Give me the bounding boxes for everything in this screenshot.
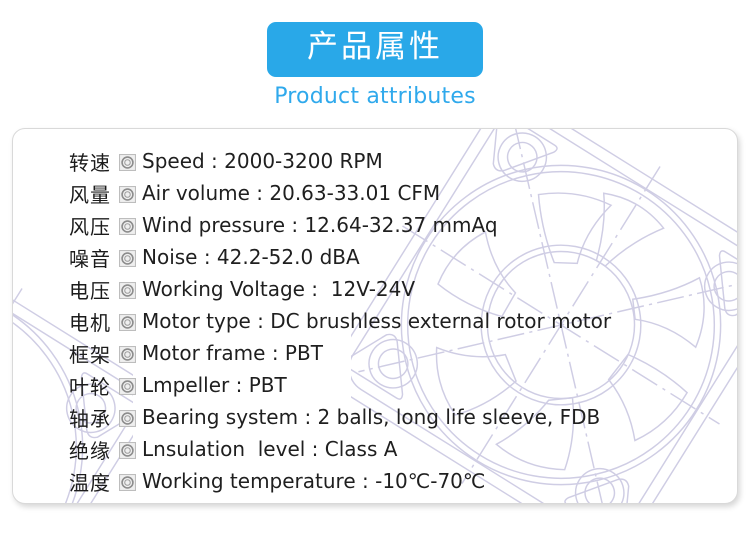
page-title-badge: 产品属性 (267, 22, 483, 77)
gear-ring-icon (119, 218, 136, 235)
gear-ring-icon (119, 474, 136, 491)
attribute-label-cn: 框架 (69, 339, 111, 368)
attribute-value-en: Motor frame : PBT (142, 341, 323, 365)
attribute-row: 电压 Working Voltage : 12V-24V (69, 273, 737, 305)
attribute-row: 电机 Motor type : DC brushless external ro… (69, 305, 737, 337)
attribute-label-cn: 电压 (69, 275, 111, 304)
gear-ring-icon (119, 410, 136, 427)
attributes-card: 转速 Speed : 2000-3200 RPM 风量 Air volume :… (12, 128, 738, 504)
attribute-label-cn: 叶轮 (69, 371, 111, 400)
attribute-row: 转速 Speed : 2000-3200 RPM (69, 145, 737, 177)
attribute-row: 轴承 Bearing system : 2 balls, long life s… (69, 401, 737, 433)
attribute-value-en: Air volume : 20.63-33.01 CFM (142, 181, 440, 205)
attribute-label-cn: 轴承 (69, 403, 111, 432)
attribute-label-cn: 风量 (69, 179, 111, 208)
gear-ring-icon (119, 282, 136, 299)
gear-ring-icon (119, 378, 136, 395)
gear-ring-icon (119, 442, 136, 459)
attribute-value-en: Lnsulation level : Class A (142, 437, 397, 461)
attribute-value-en: Working temperature : -10℃-70℃ (142, 469, 485, 493)
attribute-value-en: Noise : 42.2-52.0 dBA (142, 245, 360, 269)
attribute-row: 温度 Working temperature : -10℃-70℃ (69, 465, 737, 497)
attribute-row: 风压 Wind pressure : 12.64-32.37 mmAq (69, 209, 737, 241)
attribute-label-cn: 风压 (69, 211, 111, 240)
attribute-value-en: Bearing system : 2 balls, long life slee… (142, 405, 600, 429)
attribute-label-cn: 转速 (69, 147, 111, 176)
attribute-row: 叶轮 Lmpeller : PBT (69, 369, 737, 401)
page-subtitle: Product attributes (0, 84, 750, 109)
attribute-label-cn: 噪音 (69, 243, 111, 272)
attribute-label-cn: 温度 (69, 467, 111, 496)
attribute-value-en: Working Voltage : 12V-24V (142, 277, 415, 301)
attribute-label-cn: 绝缘 (69, 435, 111, 464)
attribute-row: 绝缘 Lnsulation level : Class A (69, 433, 737, 465)
gear-ring-icon (119, 346, 136, 363)
gear-ring-icon (119, 154, 136, 171)
gear-ring-icon (119, 250, 136, 267)
attribute-row: 框架 Motor frame : PBT (69, 337, 737, 369)
gear-ring-icon (119, 186, 136, 203)
attribute-value-en: Motor type : DC brushless external rotor… (142, 309, 611, 333)
gear-ring-icon (119, 314, 136, 331)
attribute-row: 噪音 Noise : 42.2-52.0 dBA (69, 241, 737, 273)
page-header: 产品属性 Product attributes (0, 0, 750, 109)
attribute-value-en: Wind pressure : 12.64-32.37 mmAq (142, 213, 498, 237)
attribute-value-en: Speed : 2000-3200 RPM (142, 149, 383, 173)
attribute-label-cn: 电机 (69, 307, 111, 336)
attribute-row: 风量 Air volume : 20.63-33.01 CFM (69, 177, 737, 209)
attribute-value-en: Lmpeller : PBT (142, 373, 287, 397)
attributes-list: 转速 Speed : 2000-3200 RPM 风量 Air volume :… (13, 129, 737, 497)
